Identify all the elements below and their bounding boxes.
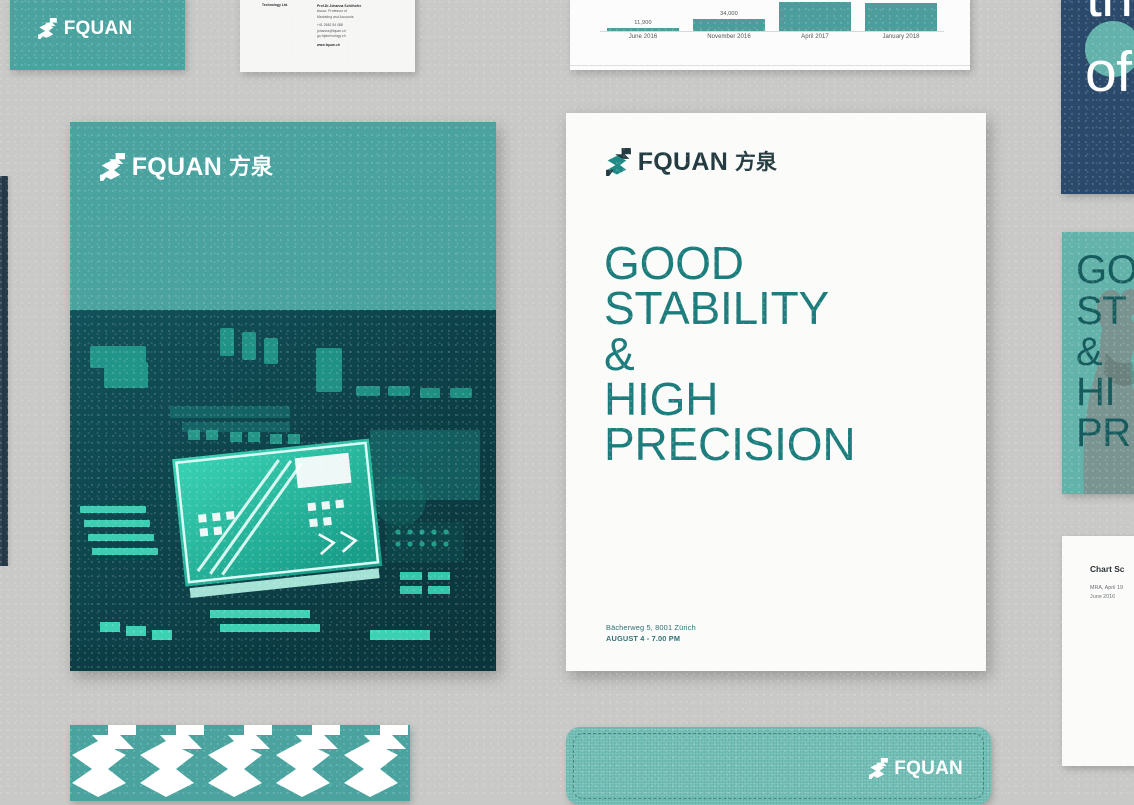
logo-lockup: FQUAN 方泉: [606, 148, 777, 176]
headline-line: ST: [1076, 291, 1134, 332]
logo-lockup: FQUAN 方泉: [100, 153, 273, 181]
logo-wordmark: FQUAN: [638, 150, 728, 175]
bar: [779, 2, 851, 32]
headline-line: PR: [1076, 413, 1134, 454]
bar-group: [779, 0, 851, 32]
brand-swatch-card: FQUAN: [10, 0, 185, 70]
brochure-header: FQUAN 方泉: [70, 122, 496, 310]
logo-chinese-name: 方泉: [735, 152, 777, 173]
x-tick-label: June 2016: [607, 34, 679, 40]
x-tick-label: January 2018: [865, 34, 937, 40]
fquan-logo-mark-icon: [606, 148, 631, 176]
fabric-pouch: FQUAN: [566, 727, 991, 805]
logo-lockup: FQUAN: [869, 758, 963, 779]
logo-wordmark: FQUAN: [132, 155, 222, 180]
chart-summary-card: Chart Sc MRA, April 19 June 2016: [1062, 536, 1134, 766]
fquan-logo-mark-icon: [100, 153, 125, 181]
headline-line: STABILITY: [604, 286, 966, 331]
bar-value-label: 34,000: [720, 11, 738, 17]
brochure-cover: FQUAN 方泉: [70, 122, 496, 671]
headline-line: HIGH: [604, 377, 966, 422]
duotone-poster: GO ST & HI PR: [1062, 232, 1134, 494]
business-card-company: Technology Ltd.: [262, 3, 324, 8]
headline-line: GO: [1076, 250, 1134, 291]
headline-line: HI: [1076, 372, 1134, 413]
x-axis-line: [600, 31, 944, 32]
bar-value-label: 11,900: [634, 20, 651, 26]
bar-group: 34,000: [693, 0, 765, 32]
logo-chinese-name: 方泉: [229, 156, 273, 178]
bar: [865, 3, 937, 32]
x-tick-label: April 2017: [779, 34, 851, 40]
pattern-strip: [70, 725, 410, 801]
bar-chart: 11,900 34,000 June 2016 November 2016 Ap…: [600, 0, 944, 48]
sheet-divider: [570, 65, 970, 66]
contact-website: www.fquan.ch: [317, 43, 403, 48]
chart-card-title: Chart Sc: [1090, 564, 1124, 574]
edge-object-left: [0, 176, 8, 566]
subtitle-line: June 2016: [1090, 593, 1123, 602]
bar-group: 11,900: [607, 0, 679, 32]
x-axis-tick-labels: June 2016 November 2016 April 2017 Janua…: [600, 34, 944, 48]
logo-wordmark: FQUAN: [894, 759, 963, 778]
headline-line: GOOD: [604, 241, 966, 286]
poster-headline: GOOD STABILITY & HIGH PRECISION: [604, 241, 966, 467]
poster-footer: Bächerweg 5, 8001 Zürich AUGUST 4 - 7.00…: [606, 623, 696, 643]
fquan-logo-mark-icon: [38, 18, 57, 39]
poster-address: Bächerweg 5, 8001 Zürich: [606, 623, 696, 632]
x-tick-label: November 2016: [693, 34, 765, 40]
chart-sheet: 11,900 34,000 June 2016 November 2016 Ap…: [570, 0, 970, 70]
brochure-photo: [70, 310, 496, 671]
headline-line: PRECISION: [604, 422, 966, 467]
poster-datetime: AUGUST 4 - 7.00 PM: [606, 634, 696, 643]
chart-card-subtitle: MRA, April 19 June 2016: [1090, 584, 1123, 602]
bar-group: [865, 0, 937, 32]
fquan-logo-mark-icon: [869, 758, 888, 779]
headline-line: &: [604, 332, 966, 377]
event-poster: FQUAN 方泉 GOOD STABILITY & HIGH PRECISION…: [566, 113, 986, 671]
duotone-headline: GO ST & HI PR: [1076, 250, 1134, 454]
business-card: Technology Ltd. Prof.Dr.Johanna Schilhof…: [240, 0, 415, 72]
subtitle-line: MRA, April 19: [1090, 584, 1123, 593]
headline-line: &: [1076, 332, 1134, 373]
logo-wordmark: FQUAN: [64, 19, 133, 38]
logo-lockup: FQUAN: [38, 18, 132, 39]
navy-text-line-2: of: [1085, 44, 1131, 101]
bar-chart-bars: 11,900 34,000: [600, 0, 944, 32]
business-card-details: Prof.Dr.Johanna Schilhofer Assoc. Profes…: [317, 4, 403, 48]
navy-cover-card: th of: [1061, 0, 1134, 194]
